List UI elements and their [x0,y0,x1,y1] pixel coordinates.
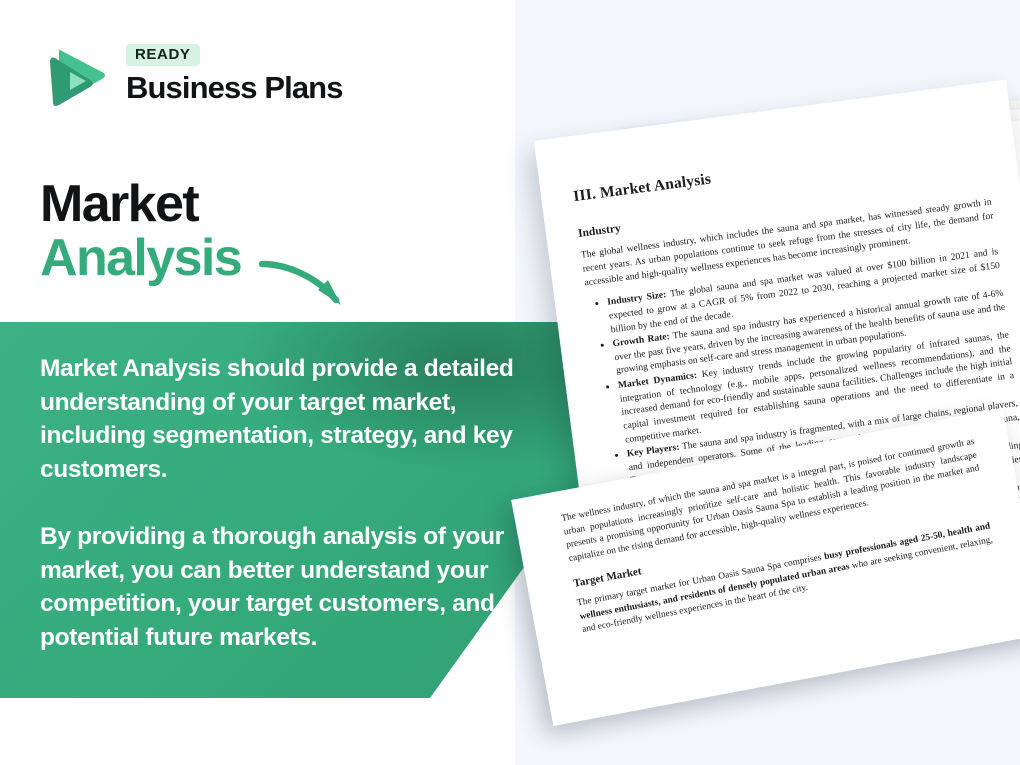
slide-canvas: III. Market Analysis Industry The global… [0,0,1020,765]
brand-name: Business Plans [126,72,343,105]
panel-copy-block: Market Analysis should provide a detaile… [40,352,560,655]
page-title-line-1: Market [40,178,241,232]
panel-paragraph-2: By providing a thorough analysis of your… [40,520,560,654]
ready-badge: READY [126,44,200,66]
brand-text-block: READY Business Plans [126,44,343,105]
document-heading: III. Market Analysis [572,135,985,206]
brand-logo[interactable]: READY Business Plans [40,36,343,112]
page-title: Market Analysis [40,178,241,285]
panel-paragraph-1: Market Analysis should provide a detaile… [40,352,560,486]
page-title-line-2: Analysis [40,232,241,286]
curved-arrow-down-right-icon [256,252,366,325]
play-triangle-logo-icon [40,36,112,112]
